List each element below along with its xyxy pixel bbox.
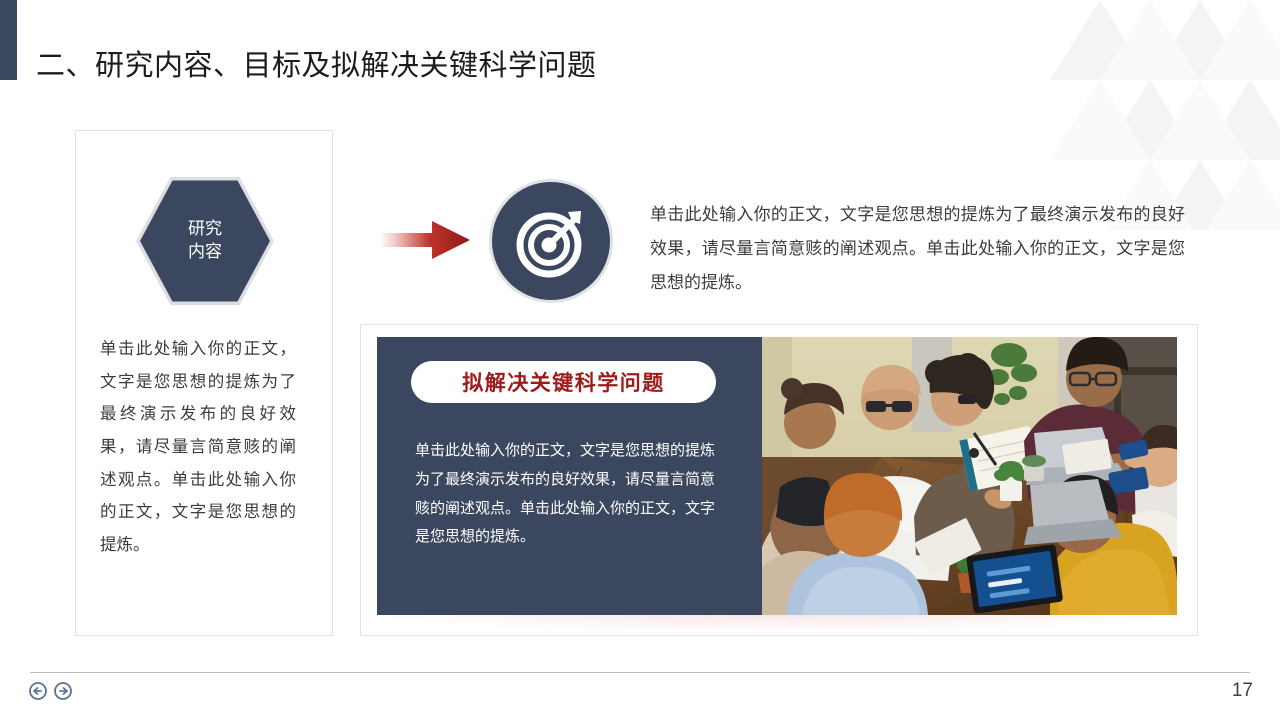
footer-divider bbox=[30, 672, 1250, 673]
key-problem-body-text: 单击此处输入你的正文，文字是您思想的提炼为了最终演示发布的良好效果，请尽量言简意… bbox=[415, 437, 715, 552]
nav-prev-circle-icon[interactable] bbox=[29, 682, 47, 700]
key-problem-panel: 拟解决关键科学问题 单击此处输入你的正文，文字是您思想的提炼为了最终演示发布的良… bbox=[377, 337, 762, 615]
right-arrow-icon bbox=[380, 218, 470, 262]
target-circle-background bbox=[492, 182, 610, 300]
slide-nav-group bbox=[29, 682, 72, 700]
hexagon-fill: 研究 内容 bbox=[140, 178, 270, 304]
page-title: 二、研究内容、目标及拟解决关键科学问题 bbox=[36, 49, 597, 84]
triangle-pattern-decoration bbox=[1040, 0, 1280, 230]
target-bullseye-arrow-icon bbox=[509, 199, 593, 283]
target-icon-badge[interactable] bbox=[492, 182, 610, 300]
meeting-photo bbox=[762, 337, 1177, 615]
left-body-text: 单击此处输入你的正文，文字是您思想的提炼为了最终演示发布的良好效果，请尽量言简意… bbox=[100, 333, 296, 562]
key-problem-pill-label: 拟解决关键科学问题 bbox=[411, 361, 716, 403]
hexagon-badge[interactable]: 研究 内容 bbox=[140, 178, 270, 304]
page-number: 17 bbox=[1232, 680, 1253, 702]
title-accent-bar bbox=[0, 0, 17, 80]
hexagon-label: 研究 内容 bbox=[188, 218, 222, 264]
nav-next-circle-icon[interactable] bbox=[54, 682, 72, 700]
top-right-body-text: 单击此处输入你的正文，文字是您思想的提炼为了最终演示发布的良好效果，请尽量言简意… bbox=[650, 198, 1185, 300]
